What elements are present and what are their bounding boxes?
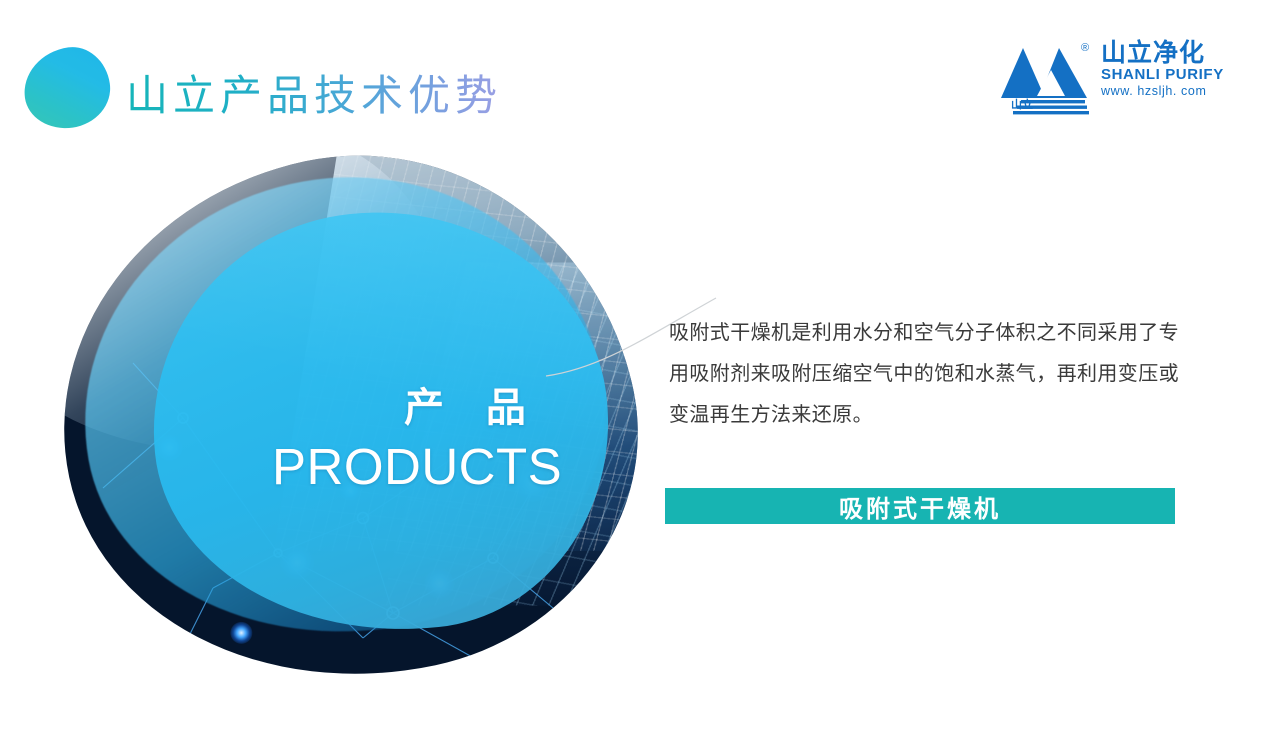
logo-url: www. hzsljh. com [1101, 84, 1226, 99]
logo-name-en: SHANLI PURIFY [1101, 66, 1226, 83]
slide-root: 山立产品技术优势 ® 山立 山立净化 SHANLI PURIFY www. hz… [0, 0, 1280, 720]
brand-logo: ® 山立 山立净化 SHANLI PURIFY www. hzsljh. com [997, 38, 1222, 120]
page-title: 山立产品技术优势 [126, 62, 502, 123]
products-graphic [55, 150, 645, 690]
graphic-title-en: PRODUCTS [272, 437, 562, 496]
network-node-glow [231, 622, 253, 644]
description-text: 吸附式干燥机是利用水分和空气分子体积之不同采用了专用吸附剂来吸附压缩空气中的饱和… [669, 312, 1189, 435]
product-name-label: 吸附式干燥机 [839, 489, 1001, 524]
logo-mark-caption: 山立 [1011, 96, 1033, 112]
product-name-banner: 吸附式干燥机 [665, 488, 1175, 524]
graphic-title-cn: 产 品 [404, 375, 540, 433]
blob-icon [19, 42, 115, 133]
registered-mark: ® [1081, 42, 1089, 54]
logo-name-cn: 山立净化 [1101, 40, 1226, 66]
